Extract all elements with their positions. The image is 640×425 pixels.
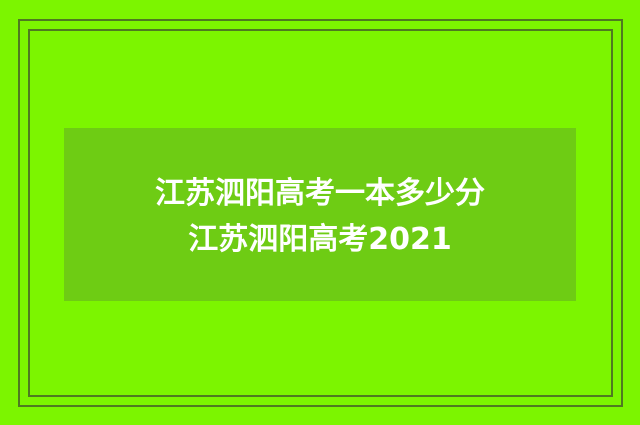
headline-line-2: 江苏泗阳高考2021 (188, 217, 452, 263)
headline-line-1: 江苏泗阳高考一本多少分 (155, 171, 485, 217)
image-canvas: 江苏泗阳高考一本多少分 江苏泗阳高考2021 (0, 0, 640, 425)
headline-panel: 江苏泗阳高考一本多少分 江苏泗阳高考2021 (64, 128, 576, 301)
